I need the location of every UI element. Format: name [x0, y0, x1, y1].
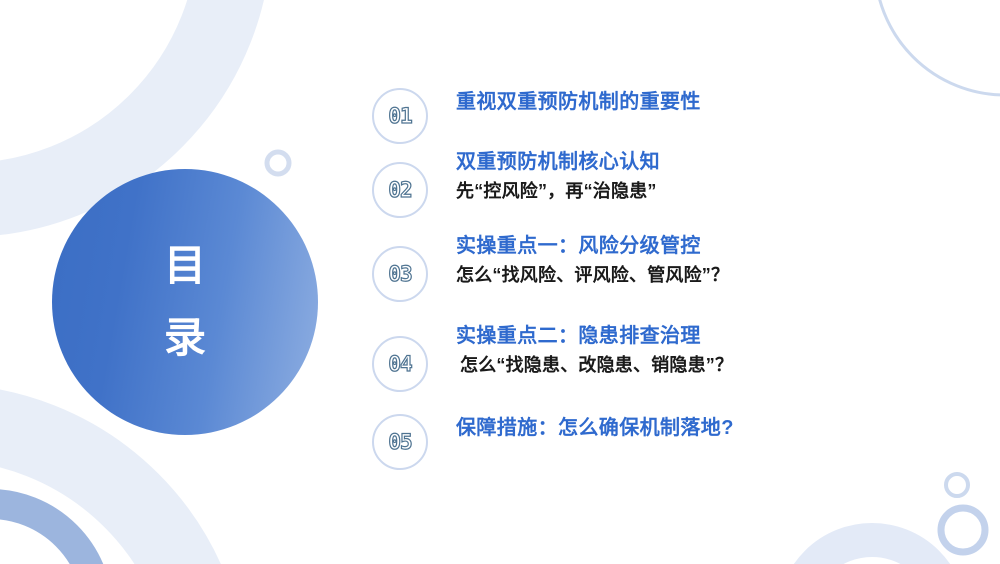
- bottom-right-small-ring: [946, 474, 968, 496]
- toc-number-05: 05: [388, 432, 411, 453]
- toc-number-04: 04: [388, 354, 411, 375]
- hero-title-char-2: 录: [164, 317, 206, 359]
- toc-item-01[interactable]: 01 重视双重预防机制的重要性: [372, 88, 701, 144]
- toc-text-04: 实操重点二：隐患排查治理 怎么“找隐患、改隐患、销隐患”？: [428, 322, 733, 377]
- toc-text-03: 实操重点一：风险分级管控 怎么“找风险、评风险、管风险”？: [428, 232, 729, 287]
- toc-badge-02: 02: [372, 162, 428, 218]
- small-ring-near-hero: [267, 152, 289, 174]
- toc-item-03[interactable]: 03 实操重点一：风险分级管控 怎么“找风险、评风险、管风险”？: [372, 232, 729, 302]
- toc-text-05: 保障措施：怎么确保机制落地?: [428, 414, 734, 442]
- toc-title-02[interactable]: 双重预防机制核心认知: [456, 150, 660, 176]
- bottom-right-medium-ring: [941, 508, 985, 552]
- bottom-left-mid-blue-ring: [0, 504, 98, 564]
- toc-badge-03: 03: [372, 246, 428, 302]
- toc-number-01: 01: [388, 106, 411, 127]
- toc-badge-04: 04: [372, 336, 428, 392]
- slide-canvas: 目 录 01 重视双重预防机制的重要性 02 双重预防机制核心认知 先“控风险”…: [0, 0, 1000, 564]
- toc-number-02: 02: [388, 180, 411, 201]
- bottom-right-pale-arc: [794, 540, 950, 564]
- toc-badge-01: 01: [372, 88, 428, 144]
- toc-title-05[interactable]: 保障措施：怎么确保机制落地?: [456, 416, 734, 442]
- bottom-left-pale-ring-arc: [0, 422, 210, 564]
- toc-text-01: 重视双重预防机制的重要性: [428, 88, 701, 116]
- table-of-contents-hero-circle: 目 录: [52, 169, 318, 435]
- toc-item-02[interactable]: 02 双重预防机制核心认知 先“控风险”，再“治隐患”: [372, 148, 660, 218]
- toc-item-04[interactable]: 04 实操重点二：隐患排查治理 怎么“找隐患、改隐患、销隐患”？: [372, 322, 733, 392]
- toc-title-03[interactable]: 实操重点一：风险分级管控: [456, 234, 729, 260]
- toc-title-04[interactable]: 实操重点二：隐患排查治理: [456, 324, 733, 350]
- top-right-outline-ring: [875, 0, 1000, 95]
- toc-title-01[interactable]: 重视双重预防机制的重要性: [456, 90, 701, 116]
- toc-text-02: 双重预防机制核心认知 先“控风险”，再“治隐患”: [428, 148, 660, 203]
- toc-number-03: 03: [388, 264, 411, 285]
- hero-title-char-1: 目: [164, 245, 206, 287]
- toc-subtitle-03: 怎么“找风险、评风险、管风险”？: [456, 264, 729, 287]
- toc-item-05[interactable]: 05 保障措施：怎么确保机制落地?: [372, 414, 734, 470]
- toc-badge-05: 05: [372, 414, 428, 470]
- toc-subtitle-02: 先“控风险”，再“治隐患”: [456, 180, 660, 203]
- toc-subtitle-04: 怎么“找隐患、改隐患、销隐患”？: [456, 354, 733, 377]
